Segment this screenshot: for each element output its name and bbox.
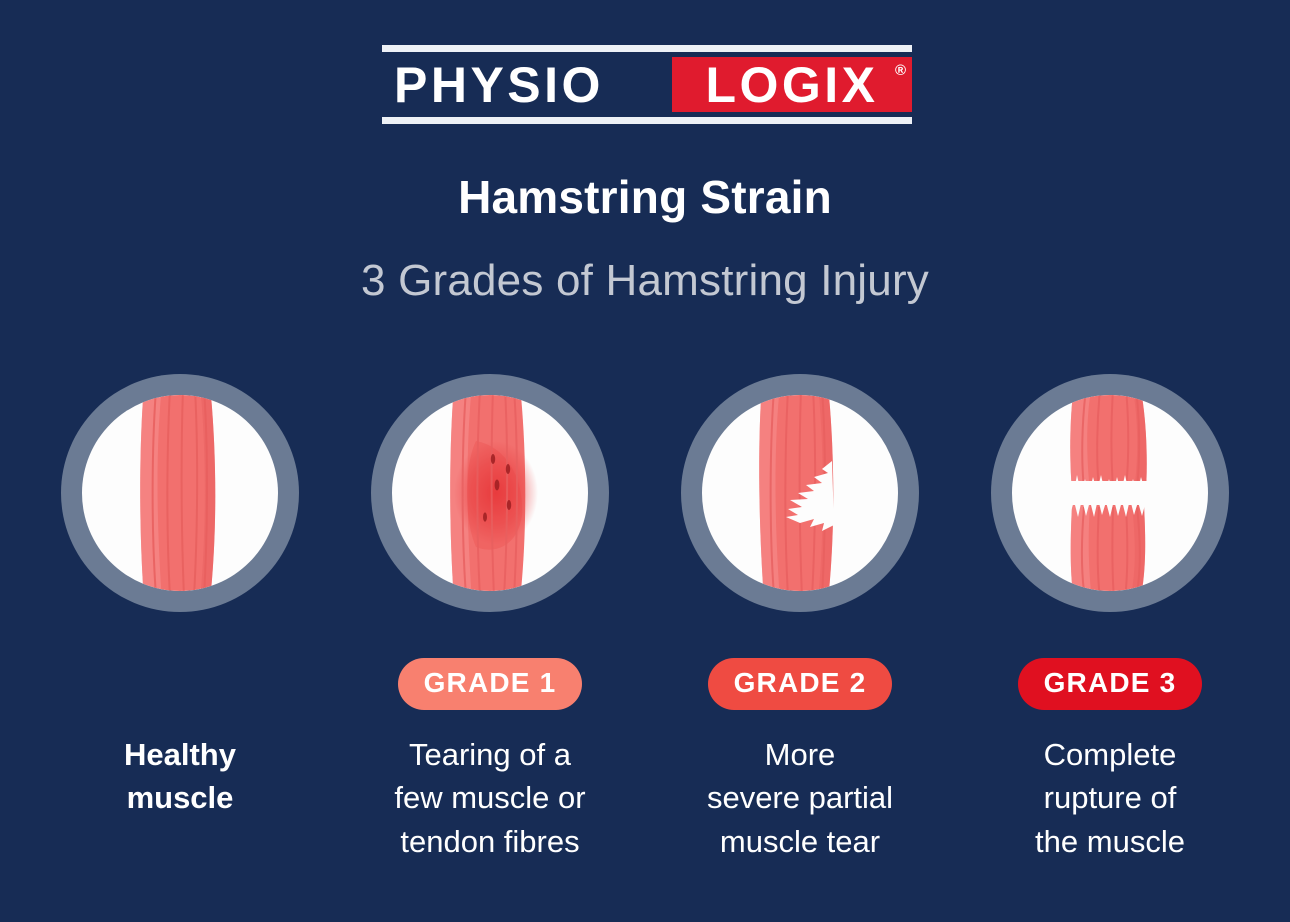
grade-2-badge: GRADE 2 [708, 658, 893, 710]
grade-3-complete-rupture-illustration [1012, 395, 1208, 591]
logo-top-rule [382, 45, 912, 52]
grade-column-grade-2: GRADE 2 More severe partial muscle tear [645, 374, 955, 863]
logo-text-logix: LOGIX [705, 60, 878, 110]
grade-3-circle [991, 374, 1229, 612]
badge-slot-grade-3: GRADE 3 [1018, 647, 1203, 721]
badge-slot-grade-1: GRADE 1 [398, 647, 583, 721]
logo-wordmark: PHYSIO LOGIX ® [382, 57, 912, 112]
badge-slot-grade-2: GRADE 2 [708, 647, 893, 721]
caption-slot-healthy: Healthy muscle [30, 733, 330, 820]
caption-grade-1: Tearing of a few muscle or tendon fibres [394, 733, 585, 863]
registered-trademark-icon: ® [895, 63, 906, 78]
grade-2-partial-tear-illustration [702, 395, 898, 591]
grade-1-circle-inner [392, 395, 588, 591]
grade-column-healthy: Healthy muscle [25, 374, 335, 863]
caption-grade-2: More severe partial muscle tear [707, 733, 893, 863]
grade-2-circle [681, 374, 919, 612]
caption-grade-3: Complete rupture of the muscle [1035, 733, 1185, 863]
healthy-muscle-circle-inner [82, 395, 278, 591]
page-subtitle: 3 Grades of Hamstring Injury [0, 256, 1290, 306]
page-title: Hamstring Strain [0, 170, 1290, 224]
logo-text-logix-block: LOGIX ® [672, 57, 912, 112]
grade-1-micro-tear-illustration [392, 395, 588, 591]
grades-row: Healthy muscle [0, 374, 1290, 863]
grade-2-circle-inner [702, 395, 898, 591]
grade-3-circle-inner [1012, 395, 1208, 591]
caption-healthy: Healthy muscle [124, 733, 236, 820]
logo-text-physio: PHYSIO [382, 57, 672, 112]
grade-column-grade-3: GRADE 3 Complete rupture of the muscle [955, 374, 1265, 863]
healthy-muscle-illustration [82, 395, 278, 591]
brand-logo: PHYSIO LOGIX ® [382, 45, 912, 124]
grade-1-circle [371, 374, 609, 612]
grade-column-grade-1: GRADE 1 Tearing of a few muscle or tendo… [335, 374, 645, 863]
caption-slot-grade-2: More severe partial muscle tear [650, 733, 950, 863]
grade-1-badge: GRADE 1 [398, 658, 583, 710]
caption-slot-grade-1: Tearing of a few muscle or tendon fibres [340, 733, 640, 863]
healthy-muscle-circle [61, 374, 299, 612]
grade-3-badge: GRADE 3 [1018, 658, 1203, 710]
caption-slot-grade-3: Complete rupture of the muscle [960, 733, 1260, 863]
logo-bottom-rule [382, 117, 912, 124]
